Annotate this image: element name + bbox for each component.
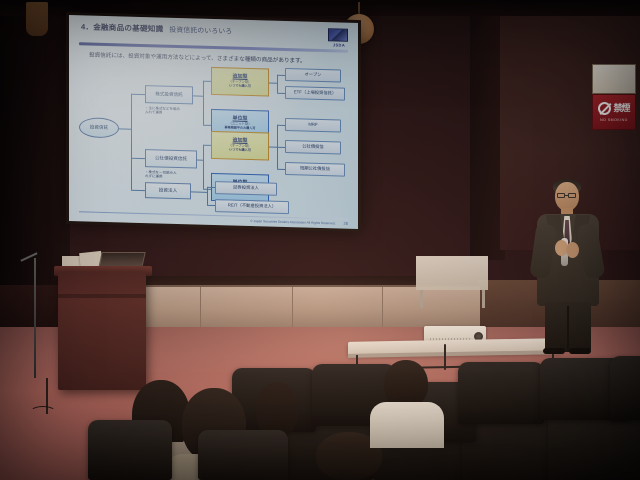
lecture-room-photo: 禁煙 NO SMOKING 4．金融商品の基礎知識投資信託のいろいろ JSDA …: [0, 0, 640, 480]
no-smoking-sign: 禁煙 NO SMOKING: [592, 64, 636, 130]
connector: [131, 157, 145, 158]
stage-seam: [200, 287, 201, 327]
projection-screen: 4．金融商品の基礎知識投資信託のいろいろ JSDA 投資信託には、投資対象や運用…: [66, 12, 361, 232]
sign-red-panel: 禁煙 NO SMOKING: [592, 94, 636, 130]
leaf-label: 公社債投信: [302, 144, 323, 150]
jsda-logo: JSDA: [328, 28, 350, 48]
leaf-mrf: MRF: [285, 117, 341, 132]
leaf-open: オープン: [285, 67, 341, 82]
branch-label: 株式投資信託: [155, 91, 183, 97]
connector: [277, 168, 285, 169]
no-smoking-icon: [598, 102, 611, 115]
stage-seam: [382, 287, 383, 327]
branch-note-stock: ・主に株式などを組み 入れて運用: [145, 106, 197, 116]
presenter: [527, 182, 607, 352]
person-shoulders: [370, 402, 444, 448]
leaf-securities-corp: 証券投資法人: [215, 181, 277, 196]
floor-cable-loop: [30, 406, 56, 418]
stage-seam: [292, 287, 293, 327]
connector: [119, 128, 131, 129]
glasses-bridge: [565, 195, 568, 196]
footer-copyright: © Japan Securities Dealers Association A…: [250, 219, 335, 225]
person-head: [384, 360, 428, 408]
branch-stock-trust: 株式投資信託: [145, 85, 193, 104]
connector: [203, 80, 211, 81]
presenter-shoe-right: [569, 348, 591, 354]
slide-title-main: 金融商品の基礎知識: [93, 23, 163, 34]
connector: [131, 93, 145, 94]
branch-bond-trust: 公社債投資信託: [145, 149, 197, 168]
leaf-bond-fund: 公社債投信: [285, 139, 341, 154]
connector: [277, 124, 285, 125]
leaf-label: MRF: [308, 122, 317, 127]
sign-blank-panel: [592, 64, 636, 94]
glasses-right-lens-icon: [568, 193, 576, 198]
connector: [269, 82, 277, 83]
leaf-label: ETF（上場投資信託）: [294, 90, 337, 96]
connector: [203, 144, 204, 188]
slide-title-sub: 投資信託のいろいろ: [169, 27, 232, 36]
leaf-label: オープン: [305, 72, 322, 77]
type-sub2: いつでも購入可: [229, 148, 251, 152]
connector: [203, 144, 211, 145]
branch-investment-corp: 投資法人: [145, 182, 191, 199]
stage-front-face: [120, 285, 480, 327]
footer-page-number: 28: [344, 221, 348, 226]
connector: [207, 204, 215, 205]
presenter-hand-right: [566, 242, 579, 258]
connector: [131, 93, 132, 189]
podium-shadow-lip: [58, 294, 146, 298]
jsda-mark-icon: [328, 28, 348, 42]
audience-seat: [610, 356, 640, 420]
side-table: [416, 256, 488, 290]
leaf-label: 証券投資法人: [233, 185, 259, 191]
diagram-root-node: 投資信託: [79, 117, 119, 138]
leaf-short-bond-fund: 短期公社債投信: [285, 161, 345, 176]
connector: [207, 186, 215, 187]
connector: [277, 74, 278, 92]
slide-title: 4．金融商品の基礎知識投資信託のいろいろ: [77, 21, 232, 36]
connector: [131, 189, 145, 190]
connector: [207, 186, 208, 204]
microphone-stand: [34, 258, 36, 378]
type-stock-additional: 追加型 （オープン型） いつでも購入可: [211, 66, 269, 96]
leaf-label: REIT（不動産投資法人）: [228, 203, 276, 209]
side-table-leg: [420, 290, 423, 308]
connector: [203, 124, 211, 125]
slide-title-number: 4．: [81, 22, 93, 31]
type-bond-additional: 追加型 （オープン型） いつでも購入可: [211, 130, 269, 160]
leg-separation: [567, 306, 569, 352]
leaf-etf: ETF（上場投資信託）: [285, 85, 345, 100]
type-sub2: 募集期間中のみ購入可: [225, 126, 256, 130]
wall-plaque: [26, 2, 48, 36]
branch-label: 公社債投資信託: [155, 155, 187, 161]
sign-sublabel: NO SMOKING: [600, 118, 628, 122]
branch-label: 投資法人: [159, 187, 177, 193]
audience-seat: [198, 430, 288, 480]
investment-trust-diagram: 投資信託 株式投資信託 ・主に株式などを組み 入れて運用: [77, 61, 350, 217]
connector: [203, 80, 204, 124]
leaf-label: 短期公社債投信: [300, 166, 330, 172]
jsda-logo-text: JSDA: [328, 42, 350, 48]
glasses-left-lens-icon: [557, 193, 565, 198]
presentation-slide: 4．金融商品の基礎知識投資信託のいろいろ JSDA 投資信託には、投資対象や運用…: [69, 15, 358, 229]
screen-surface: 4．金融商品の基礎知識投資信託のいろいろ JSDA 投資信託には、投資対象や運用…: [69, 15, 358, 229]
podium: [58, 272, 146, 390]
sign-label: 禁煙: [613, 104, 629, 113]
connector: [269, 146, 277, 147]
audience-seat: [88, 420, 172, 480]
connector: [277, 74, 285, 75]
connector: [191, 191, 207, 192]
sign-row: 禁煙: [598, 102, 629, 115]
root-label: 投資信託: [90, 124, 108, 130]
side-table-leg: [482, 290, 485, 308]
branch-note-bond: ・株式を一切組み入 れずに運用: [145, 170, 197, 180]
connector: [193, 95, 203, 96]
presenter-shoe-left: [543, 348, 565, 354]
leaf-reit: REIT（不動産投資法人）: [215, 199, 289, 214]
connector: [277, 146, 285, 147]
type-sub2: いつでも購入可: [229, 84, 251, 88]
connector: [277, 92, 285, 93]
audience-seat: [458, 362, 544, 424]
